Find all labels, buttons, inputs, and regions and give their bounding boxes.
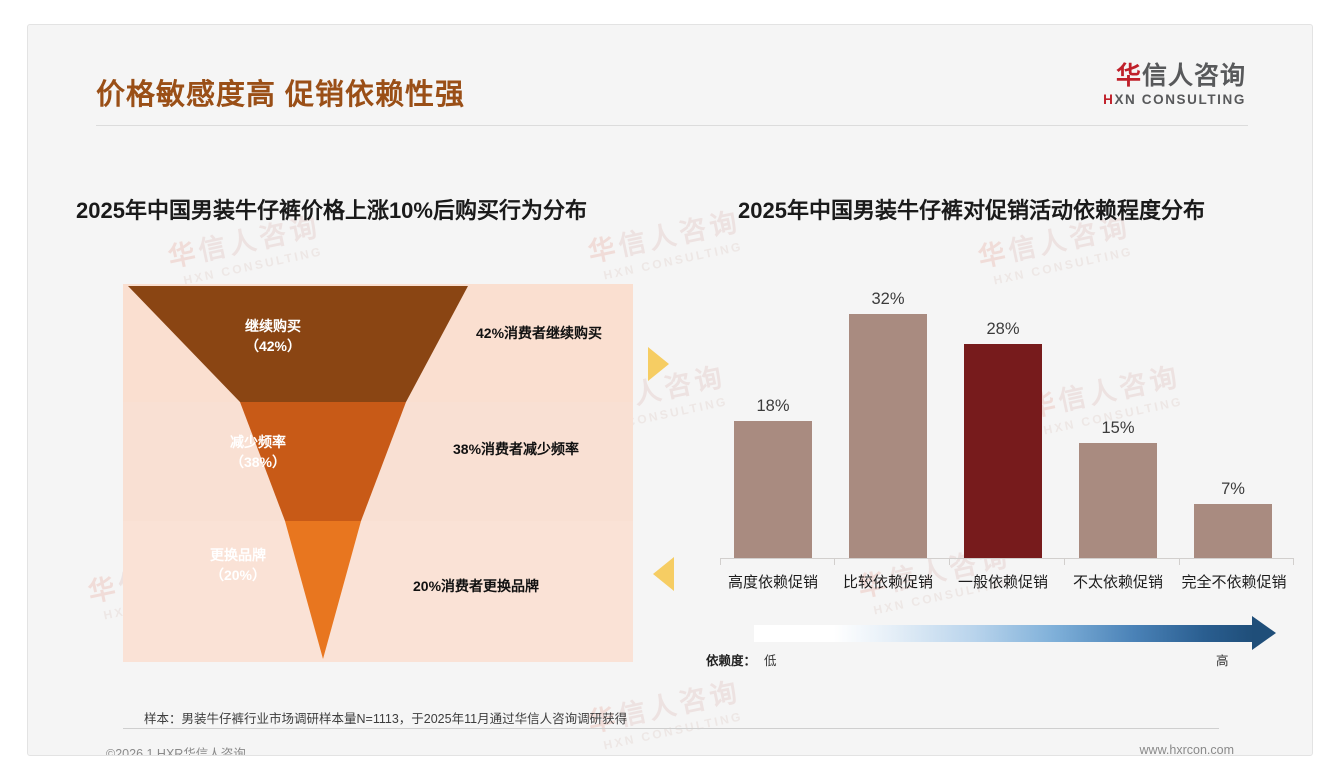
logo-cn-red: 华	[1116, 62, 1142, 90]
funnel-segment-1-value: （42%）	[245, 338, 301, 354]
watermark: 华信人咨询 HXN CONSULTING	[584, 199, 747, 284]
bar-4	[1079, 443, 1157, 558]
play-right-icon	[648, 347, 669, 381]
axis-tick	[720, 558, 721, 565]
watermark-cn-hx: 华	[586, 232, 623, 268]
watermark-en: HXN CONSULTING	[992, 244, 1137, 288]
watermark-cn-rest: 信人咨询	[616, 676, 744, 731]
funnel-segment-2-name: 减少频率	[230, 434, 286, 450]
gradient-bar	[754, 625, 1254, 642]
watermark-en: HXN CONSULTING	[182, 244, 327, 288]
logo-en-gray: XN CONSULTING	[1114, 92, 1246, 107]
legend-high-label: 高	[1216, 650, 1229, 669]
right-chart-title: 2025年中国男装牛仔裤对促销活动依赖程度分布	[738, 193, 1205, 225]
funnel-segment-1-label: 继续购买 （42%）	[193, 316, 353, 357]
funnel-annotation-2: 38%消费者减少频率	[453, 439, 579, 459]
watermark-cn-hx: 华	[166, 237, 203, 273]
footer-copyright: ©2026.1 HXR华信人咨询	[106, 743, 246, 756]
funnel-segment-1-name: 继续购买	[245, 318, 301, 334]
play-left-icon	[653, 557, 674, 591]
header-divider	[96, 125, 1248, 126]
bar-5-value: 7%	[1194, 480, 1272, 499]
axis-tick	[1064, 558, 1065, 565]
bar-2	[849, 314, 927, 558]
funnel-segment-3-value: （20%）	[210, 567, 266, 583]
bar-3	[964, 344, 1042, 558]
footer-divider	[123, 728, 1219, 729]
dependency-bar-chart: 18% 32% 28% 15% 7%	[716, 283, 1296, 603]
watermark-en: HXN CONSULTING	[602, 239, 747, 283]
slide-page: 华信人咨询 HXN CONSULTING 华信人咨询 HXN CONSULTIN…	[0, 0, 1340, 780]
legend-key-label: 依赖度：	[706, 650, 756, 669]
bar-1	[734, 421, 812, 558]
bar-2-value: 32%	[849, 290, 927, 309]
funnel-annotation-3: 20%消费者更换品牌	[413, 576, 539, 596]
footer-website[interactable]: www.hxrcon.com	[1140, 743, 1234, 756]
logo-en-red: H	[1103, 92, 1114, 107]
bar-category-5: 完全不依赖促销	[1171, 571, 1297, 592]
company-logo: 华信人咨询 HXN CONSULTING	[1103, 63, 1246, 107]
slide-header: 价格敏感度高 促销依赖性强 华信人咨询 HXN CONSULTING	[28, 25, 1313, 123]
bar-category-3: 一般依赖促销	[945, 571, 1061, 592]
axis-tick	[834, 558, 835, 565]
bar-category-2: 比较依赖促销	[830, 571, 946, 592]
funnel-segment-3	[285, 521, 361, 659]
bar-4-value: 15%	[1079, 419, 1157, 438]
bar-5	[1194, 504, 1272, 558]
funnel-segment-3-label: 更换品牌 （20%）	[158, 545, 318, 586]
bar-1-value: 18%	[734, 397, 812, 416]
dependency-gradient-legend: 依赖度： 低 高	[716, 619, 1296, 679]
left-chart-title: 2025年中国男装牛仔裤价格上涨10%后购买行为分布	[76, 193, 587, 225]
axis-tick	[1179, 558, 1180, 565]
logo-cn-gray: 信人咨询	[1142, 62, 1246, 90]
watermark-cn-hx: 华	[86, 572, 123, 608]
bar-3-value: 28%	[964, 320, 1042, 339]
funnel-segment-2-value: （38%）	[230, 454, 286, 470]
page-title: 价格敏感度高 促销依赖性强	[96, 81, 465, 110]
bar-category-1: 高度依赖促销	[715, 571, 831, 592]
bar-chart-plot-area: 18% 32% 28% 15% 7%	[716, 283, 1296, 558]
funnel-annotation-1: 42%消费者继续购买	[476, 323, 602, 343]
watermark-cn-hx: 华	[976, 237, 1013, 273]
watermark-cn-rest: 信人咨询	[616, 206, 744, 261]
slide-canvas: 华信人咨询 HXN CONSULTING 华信人咨询 HXN CONSULTIN…	[27, 24, 1313, 756]
sample-note: 样本：男装牛仔裤行业市场调研样本量N=1113，于2025年11月通过华信人咨询…	[144, 708, 627, 727]
axis-tick	[1293, 558, 1294, 565]
funnel-segment-3-name: 更换品牌	[210, 547, 266, 563]
arrow-right-icon	[1252, 616, 1276, 650]
funnel-segment-2-label: 减少频率 （38%）	[178, 432, 338, 473]
legend-low-label: 低	[764, 650, 777, 669]
bar-category-4: 不太依赖促销	[1060, 571, 1176, 592]
axis-tick	[949, 558, 950, 565]
bar-chart-x-axis	[720, 558, 1294, 559]
